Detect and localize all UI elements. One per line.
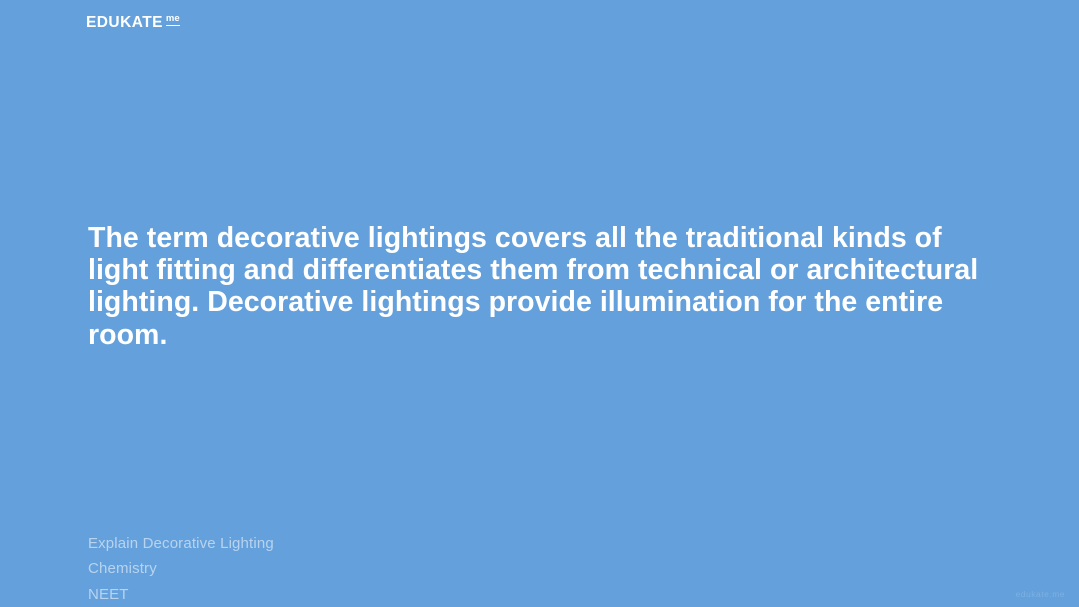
meta-topic: Explain Decorative Lighting (88, 531, 274, 556)
slide-headline: The term decorative lightings covers all… (88, 222, 988, 351)
slide-canvas: EDUKATE me The term decorative lightings… (0, 0, 1079, 607)
corner-watermark: edukate.me (1016, 589, 1065, 599)
brand-logo-superscript: me (166, 14, 180, 26)
brand-logo[interactable]: EDUKATE me (86, 15, 180, 31)
meta-exam: NEET (88, 582, 274, 607)
slide-meta-block: Explain Decorative Lighting Chemistry NE… (88, 531, 274, 607)
brand-logo-wordmark: EDUKATE (86, 15, 163, 31)
meta-subject: Chemistry (88, 556, 274, 581)
